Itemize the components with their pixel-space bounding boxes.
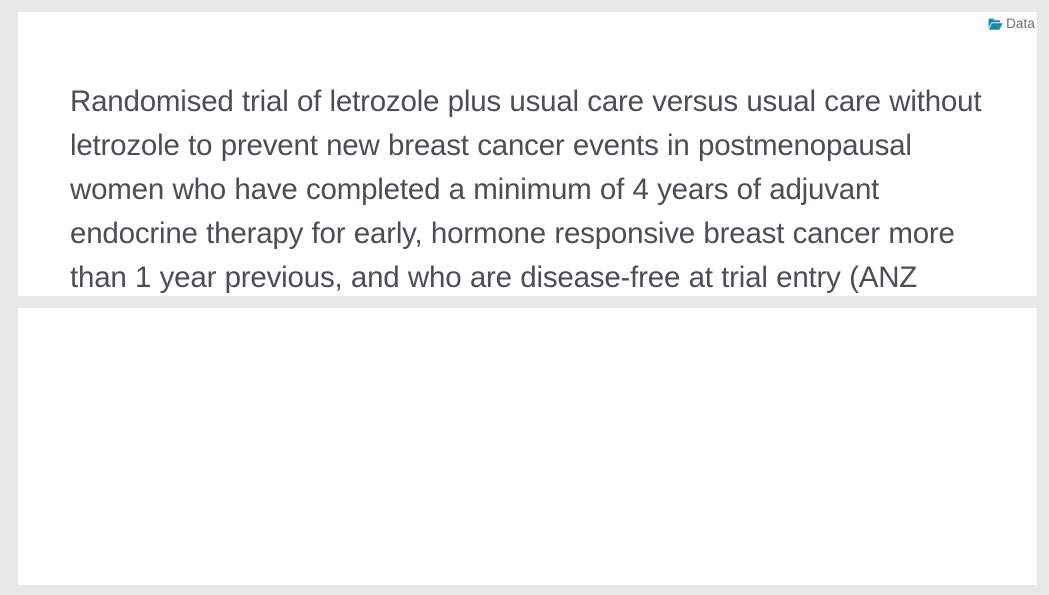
body-card: Access the data Saved to MyHDA Dataset d… xyxy=(18,308,1037,585)
breadcrumb-label: Data xyxy=(1006,16,1035,32)
folder-open-icon xyxy=(988,18,1003,31)
breadcrumb-data[interactable]: Data xyxy=(988,15,1035,33)
page-title: Randomised trial of letrozole plus usual… xyxy=(70,80,990,344)
page-root: Data Randomised trial of letrozole plus … xyxy=(0,0,1049,595)
header-card: Randomised trial of letrozole plus usual… xyxy=(18,12,1037,296)
